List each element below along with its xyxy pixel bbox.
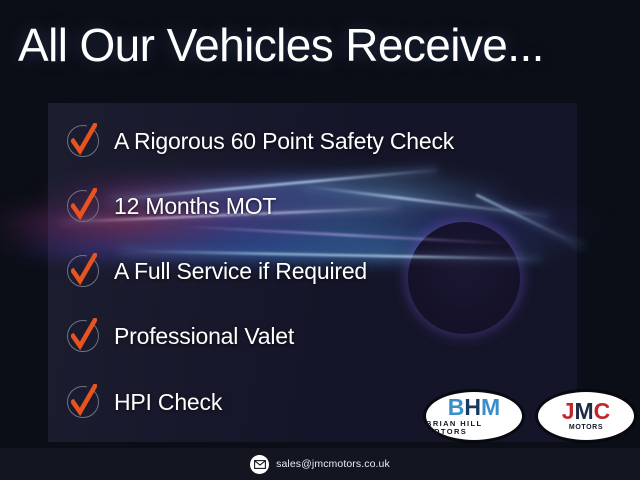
list-item: A Full Service if Required xyxy=(64,251,367,291)
check-circle-icon xyxy=(64,317,102,355)
check-circle-icon xyxy=(64,122,102,160)
jmc-logo-subtitle: MOTORS xyxy=(569,424,603,432)
envelope-glyph xyxy=(254,460,266,469)
check-circle-icon xyxy=(64,383,102,421)
check-mark-icon xyxy=(71,123,97,157)
list-item: HPI Check xyxy=(64,382,222,422)
list-item-label: A Rigorous 60 Point Safety Check xyxy=(114,128,454,154)
bhm-letter-b: B xyxy=(448,394,465,420)
footer-bar: sales@jmcmotors.co.uk xyxy=(0,448,640,480)
jmc-logo: JMC MOTORS xyxy=(536,390,636,442)
check-mark-icon xyxy=(71,318,97,352)
bhm-letter-m: M xyxy=(481,394,500,420)
list-item-label: 12 Months MOT xyxy=(114,193,276,219)
list-item: 12 Months MOT xyxy=(64,186,276,226)
bhm-letter-h: H xyxy=(464,394,481,420)
jmc-letter-c: C xyxy=(594,398,611,424)
list-item-label: A Full Service if Required xyxy=(114,258,367,284)
list-item: A Rigorous 60 Point Safety Check xyxy=(64,121,454,161)
dealer-logos: BHM BRIAN HILL MOTORS JMC MOTORS xyxy=(424,390,636,442)
check-circle-icon xyxy=(64,252,102,290)
check-circle-icon xyxy=(64,187,102,225)
list-item-label: Professional Valet xyxy=(114,323,294,349)
contact-email[interactable]: sales@jmcmotors.co.uk xyxy=(276,458,390,470)
bhm-logo-subtitle: BRIAN HILL MOTORS xyxy=(426,420,522,436)
jmc-logo-letters: JMC xyxy=(562,400,611,423)
bhm-logo: BHM BRIAN HILL MOTORS xyxy=(424,390,524,442)
envelope-icon xyxy=(250,455,269,474)
check-mark-icon xyxy=(71,253,97,287)
bhm-logo-letters: BHM xyxy=(448,396,500,419)
check-mark-icon xyxy=(71,188,97,222)
jmc-letter-j: J xyxy=(562,398,575,424)
list-item: Professional Valet xyxy=(64,316,294,356)
list-item-label: HPI Check xyxy=(114,389,222,415)
slide-canvas: All Our Vehicles Receive... A Rigorous 6… xyxy=(0,0,640,480)
check-mark-icon xyxy=(71,384,97,418)
jmc-letter-m: M xyxy=(575,398,594,424)
page-title: All Our Vehicles Receive... xyxy=(18,21,544,69)
